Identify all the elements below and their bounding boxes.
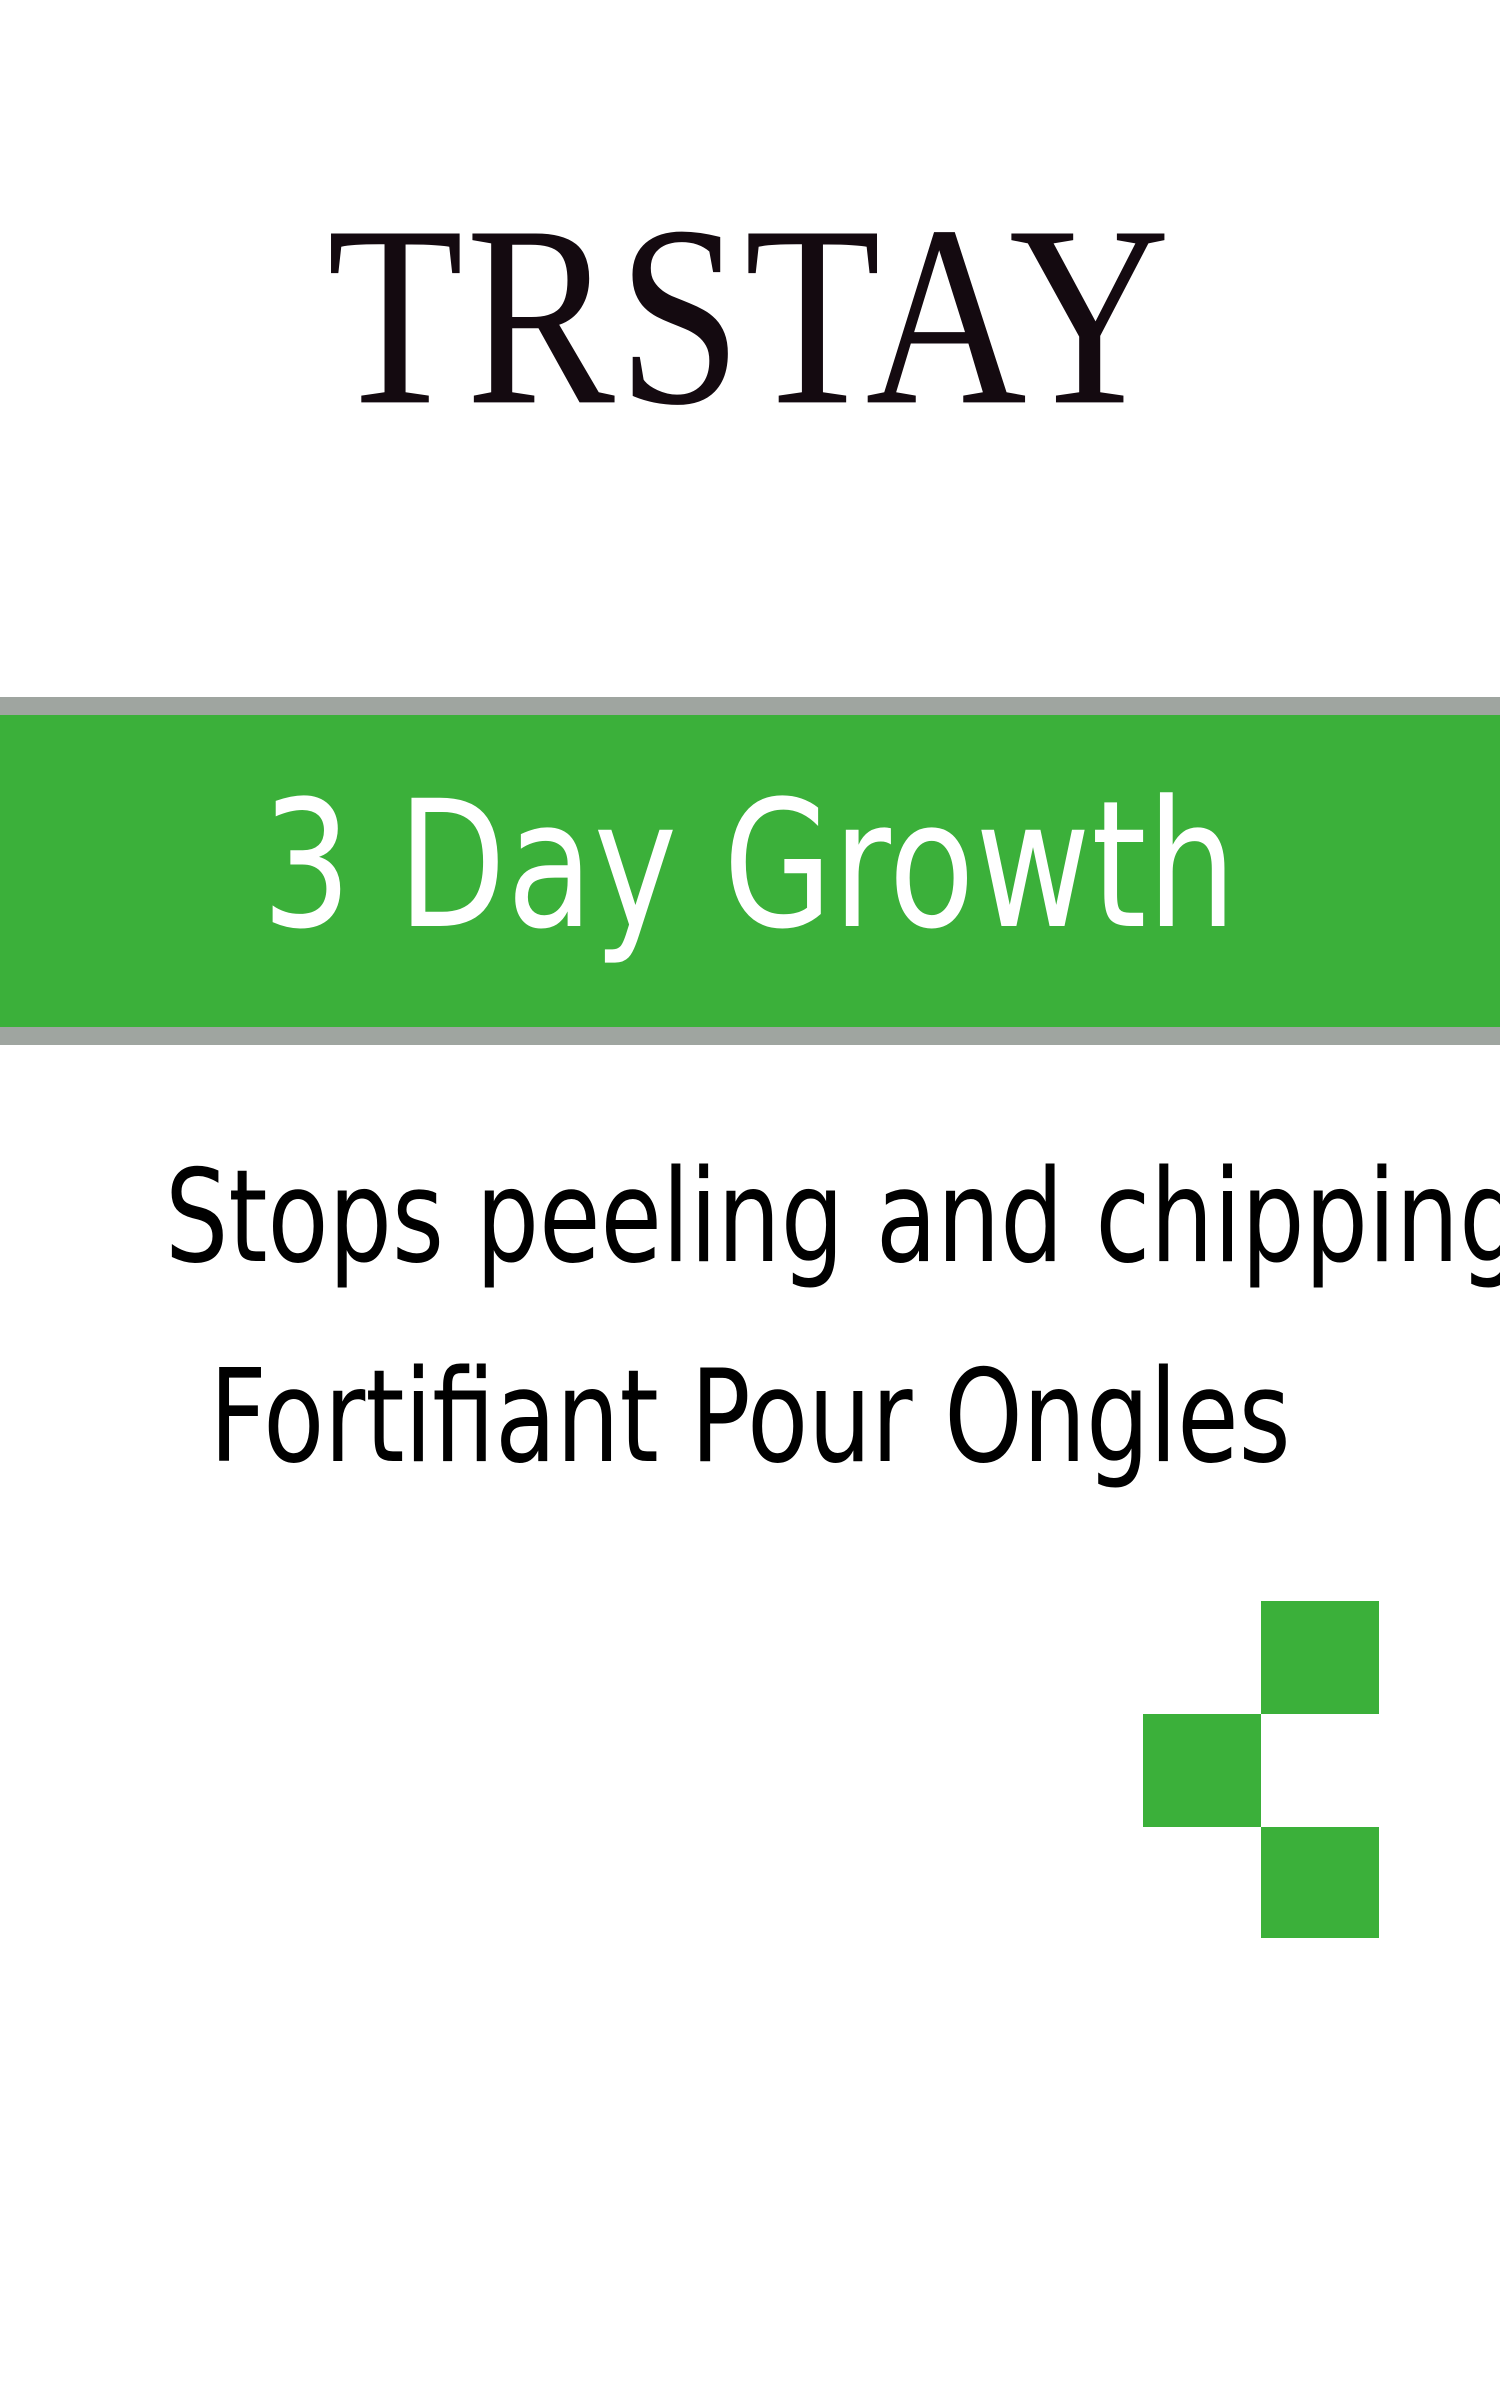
headline-banner: 3 Day Growth	[0, 697, 1500, 1045]
brand-wordmark: TRSTAY	[327, 205, 1173, 427]
square-middle-left-icon	[1143, 1714, 1261, 1827]
claims-block: Stops peeling and chipping Fortifiant Po…	[0, 1118, 1500, 1518]
zigzag-squares-icon	[1143, 1601, 1380, 1938]
square-bottom-right-icon	[1261, 1827, 1379, 1938]
square-top-right-icon	[1261, 1601, 1379, 1714]
claim-line-secondary: Fortifiant Pour Ongles	[165, 1318, 1335, 1518]
product-label-page: TRSTAY 3 Day Growth Stops peeling and ch…	[0, 0, 1500, 2400]
brand-header: TRSTAY	[0, 196, 1500, 436]
claim-line-primary: Stops peeling and chipping	[165, 1118, 1335, 1318]
headline-text: 3 Day Growth	[262, 778, 1237, 964]
